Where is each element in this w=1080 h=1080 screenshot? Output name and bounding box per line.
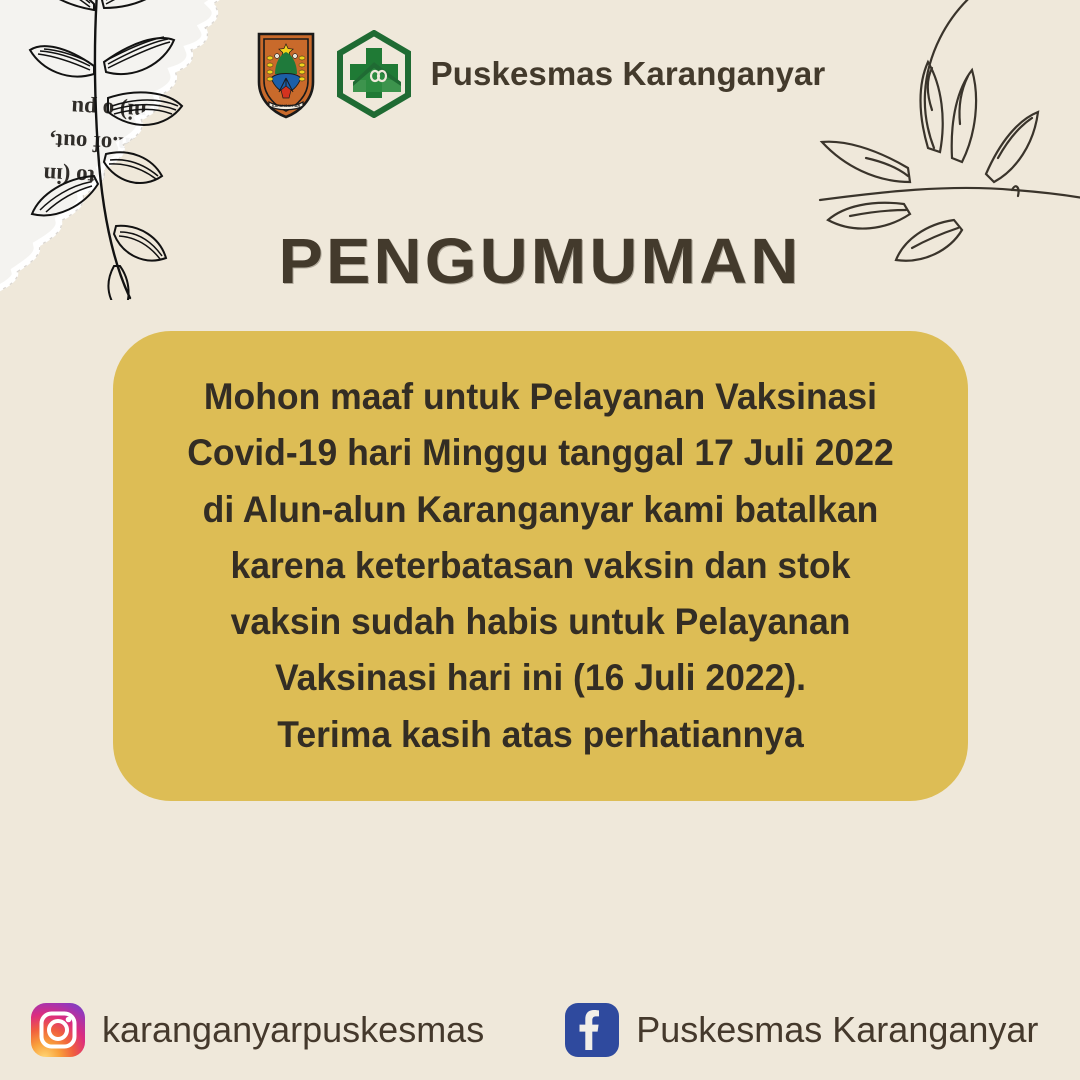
- poster-header: KARANGANYAR Puskesmas Karanganyar: [0, 28, 1080, 120]
- announcement-line: vaksin sudah habis untuk Pelayanan: [155, 594, 926, 650]
- facebook-page-name: Puskesmas Karanganyar: [636, 1009, 1038, 1051]
- facebook-link[interactable]: Puskesmas Karanganyar: [564, 1002, 1038, 1058]
- announcement-line: Covid-19 hari Minggu tanggal 17 Juli 202…: [155, 425, 926, 481]
- announcement-text: Mohon maaf untuk Pelayanan Vaksinasi Cov…: [130, 369, 951, 763]
- poster-footer: karanganyarpuskesmas Puskesmas Karangany…: [0, 1002, 1080, 1058]
- announcement-line: di Alun-alun Karanganyar kami batalkan: [155, 482, 926, 538]
- karanganyar-regency-crest-icon: KARANGANYAR: [255, 28, 317, 120]
- announcement-line: Terima kasih atas perhatiannya: [155, 707, 926, 763]
- svg-text:your bad to (in: your bad to (in: [43, 162, 190, 195]
- page-title: PENGUMUMAN: [0, 224, 1080, 298]
- puskesmas-green-hexagon-icon: [335, 30, 413, 118]
- announcement-line: Mohon maaf untuk Pelayanan Vaksinasi: [155, 369, 926, 425]
- instagram-link[interactable]: karanganyarpuskesmas: [30, 1002, 484, 1058]
- announcement-line: karena keterbatasan vaksin dan stok: [155, 538, 926, 594]
- announcement-line: Vaksinasi hari ini (16 Juli 2022).: [155, 650, 926, 706]
- instagram-handle: karanganyarpuskesmas: [102, 1009, 484, 1051]
- facebook-icon[interactable]: [564, 1002, 620, 1058]
- svg-text:KARANGANYAR: KARANGANYAR: [272, 104, 301, 108]
- svg-text:deop. th.of out,: deop. th.of out,: [49, 129, 198, 162]
- instagram-icon[interactable]: [30, 1002, 86, 1058]
- announcement-card: Mohon maaf untuk Pelayanan Vaksinasi Cov…: [113, 331, 968, 801]
- announcement-poster: your bad to (in deop. th.of out, ead ni)…: [0, 0, 1080, 1080]
- header-title: Puskesmas Karanganyar: [431, 55, 826, 93]
